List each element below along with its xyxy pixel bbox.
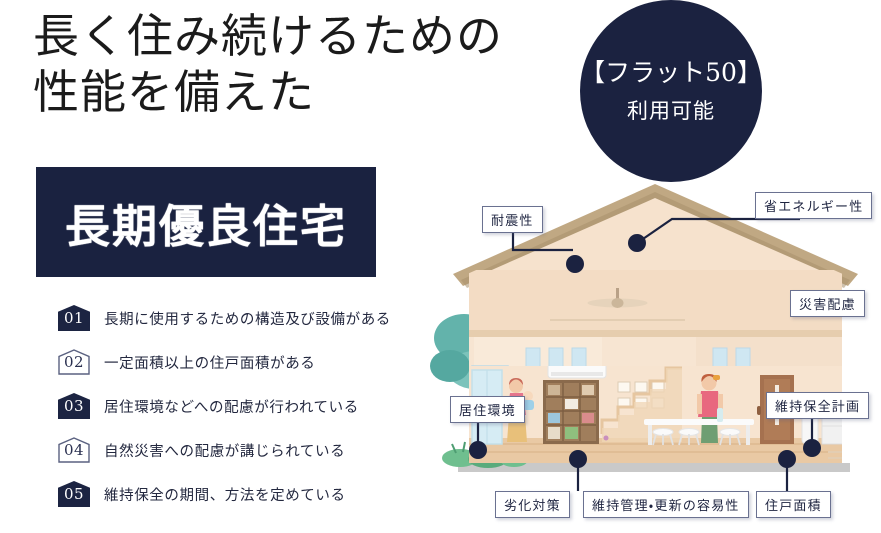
criteria-text: 自然災害への配慮が講じられている (104, 440, 345, 461)
callout-disaster-consideration[interactable]: 災害配慮 (790, 290, 865, 317)
criteria-text: 一定面積以上の住戸面積がある (104, 352, 315, 373)
callout-dwelling-area[interactable]: 住戸面積 (756, 491, 831, 518)
criteria-text: 居住環境などへの配慮が行われている (104, 396, 359, 417)
criteria-number: 02 (64, 353, 84, 371)
list-item: 01 長期に使用するための構造及び設備がある (58, 296, 398, 340)
program-banner-label: 長期優良住宅 (65, 190, 347, 255)
callout-deterioration-measures[interactable]: 劣化対策 (495, 491, 570, 518)
list-item: 02 一定面積以上の住戸面積がある (58, 340, 398, 384)
criteria-number-badge: 05 (58, 481, 90, 507)
flat50-badge-subtitle: 利用可能 (627, 95, 715, 125)
criteria-list: 01 長期に使用するための構造及び設備がある 02 一定面積以上の住戸面積がある… (58, 296, 398, 516)
callout-energy-efficiency[interactable]: 省エネルギー性 (755, 192, 872, 219)
page-title: 長く住み続けるための 性能を備えた (33, 8, 573, 120)
criteria-number: 04 (64, 441, 84, 459)
criteria-number-badge: 04 (58, 437, 90, 463)
flat50-badge: 【フラット50】 利用可能 (580, 0, 762, 182)
criteria-number-badge: 03 (58, 393, 90, 419)
criteria-number-badge: 01 (58, 305, 90, 331)
list-item: 05 維持保全の期間、方法を定めている (58, 472, 398, 516)
flat50-badge-title: 【フラット50】 (580, 57, 762, 88)
criteria-number: 01 (64, 309, 84, 327)
callout-maintenance-ease[interactable]: 維持管理・更新の容易性 (583, 491, 749, 518)
program-banner: 長期優良住宅 (36, 167, 376, 277)
criteria-number: 05 (64, 485, 84, 503)
callout-maintenance-plan[interactable]: 維持保全計画 (766, 392, 869, 419)
list-item: 04 自然災害への配慮が講じられている (58, 428, 398, 472)
criteria-number-badge: 02 (58, 349, 90, 375)
list-item: 03 居住環境などへの配慮が行われている (58, 384, 398, 428)
criteria-number: 03 (64, 397, 84, 415)
callout-living-environment[interactable]: 居住環境 (450, 396, 525, 423)
criteria-text: 維持保全の期間、方法を定めている (104, 484, 346, 505)
callout-earthquake-resistance[interactable]: 耐震性 (482, 206, 543, 233)
criteria-text: 長期に使用するための構造及び設備がある (104, 308, 391, 329)
poster-canvas: 長く住み続けるための 性能を備えた 【フラット50】 利用可能 長期優良住宅 0… (0, 0, 881, 533)
